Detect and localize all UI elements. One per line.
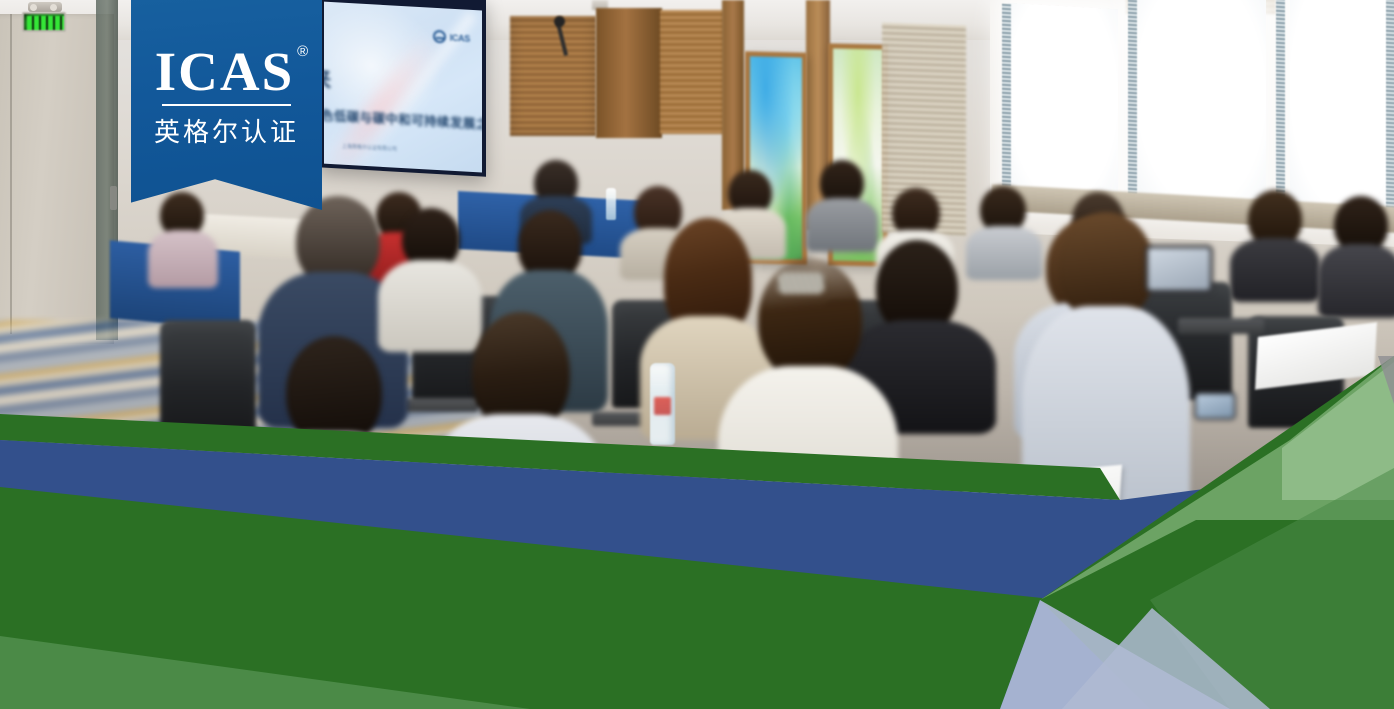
window-mullion-2 xyxy=(1128,0,1137,210)
slide-logo: ICAS xyxy=(433,30,470,45)
hair-clip-accessory xyxy=(778,272,824,294)
door-handle xyxy=(110,186,117,210)
slide-title: 来 xyxy=(324,63,331,94)
projection-screen-surface: ICAS 来 绿色低碳与碳中和可持续发展之路 上海英格尔认证有限公司 xyxy=(324,2,482,173)
tablet-device xyxy=(1148,248,1210,290)
attendee-row-back xyxy=(1318,196,1394,316)
wood-panel-a xyxy=(596,8,662,138)
attendee-body xyxy=(718,366,898,556)
slide-logo-text: ICAS xyxy=(450,32,470,43)
smartphone xyxy=(1196,394,1234,418)
icas-logo-block: ICAS® 英格尔认证 xyxy=(131,0,322,210)
attendee-row-back xyxy=(806,160,878,250)
exit-sign-led xyxy=(27,16,65,31)
attendee-row-front xyxy=(430,312,606,570)
attendee-body xyxy=(1230,238,1320,302)
icas-wordmark-text: ICAS xyxy=(155,41,294,102)
wooden-blinds-left xyxy=(510,16,596,136)
handout-papers xyxy=(844,541,979,605)
slide-subtitle: 绿色低碳与碳中和可持续发展之路 xyxy=(324,104,482,134)
icas-logo: ICAS® 英格尔认证 xyxy=(131,44,322,149)
icas-wordmark: ICAS® xyxy=(155,44,298,99)
logo-divider xyxy=(162,104,291,106)
icas-chinese-name: 英格尔认证 xyxy=(131,112,322,149)
registered-trademark-icon: ® xyxy=(297,44,310,59)
door-seam xyxy=(10,14,12,334)
sign-bracket xyxy=(28,2,62,12)
attendee-body xyxy=(236,432,422,610)
emergency-exit-sign xyxy=(22,12,66,32)
wooden-blinds-right xyxy=(660,10,724,134)
attendee-row-front xyxy=(718,258,898,550)
window-pane-2 xyxy=(1136,0,1266,212)
microphone-head xyxy=(554,16,565,27)
water-bottle xyxy=(650,363,675,445)
attendee-row-front xyxy=(236,336,422,606)
attendee-body xyxy=(148,230,218,288)
projection-screen: ICAS 来 绿色低碳与碳中和可持续发展之路 上海英格尔认证有限公司 xyxy=(318,0,486,177)
window-pane-1 xyxy=(1008,3,1118,206)
attendee-body xyxy=(1318,244,1394,318)
window-mullion-4 xyxy=(1386,0,1394,222)
attendee-row-back xyxy=(1230,190,1320,300)
attendee-body xyxy=(430,414,606,574)
smartphone xyxy=(1276,26,1306,44)
chair-tablet-arm xyxy=(1178,318,1264,334)
window-mullion-1 xyxy=(1002,4,1011,205)
attendee-row-back xyxy=(148,192,218,288)
slide-logo-icon xyxy=(433,30,446,44)
banner-stage: ICAS 来 绿色低碳与碳中和可持续发展之路 上海英格尔认证有限公司 xyxy=(0,0,1394,709)
